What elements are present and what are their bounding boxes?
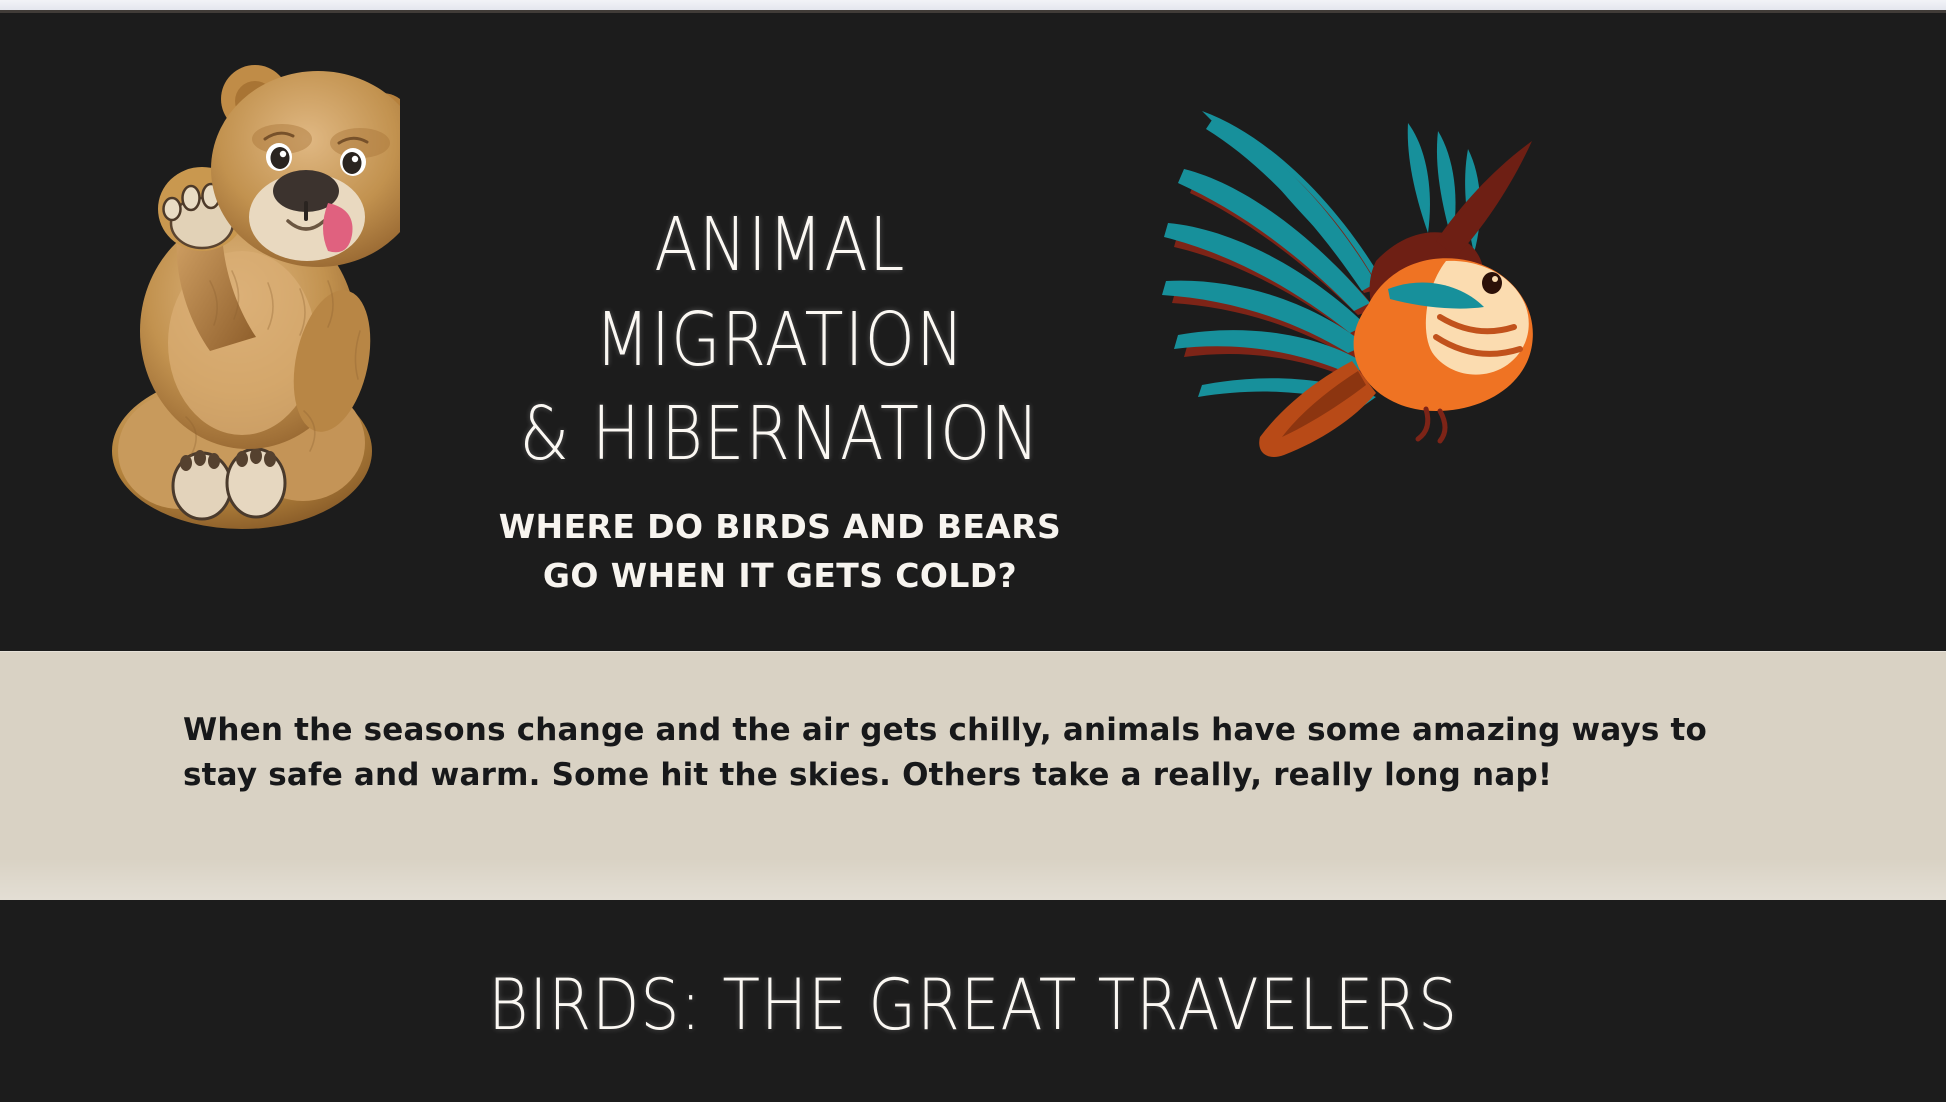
page-title: ANIMAL MIGRATION & HIBERNATION — [470, 198, 1089, 482]
page-subtitle: WHERE DO BIRDS AND BEARS GO WHEN IT GETS… — [420, 503, 1140, 600]
flying-bird-illustration — [1140, 93, 1540, 473]
intro-paragraph: When the seasons change and the air gets… — [183, 708, 1773, 797]
section-band: BIRDS: THE GREAT TRAVELERS — [0, 900, 1946, 1102]
poster-canvas: ANIMAL MIGRATION & HIBERNATION WHERE DO … — [0, 0, 1946, 1102]
window-top-strip — [0, 0, 1946, 10]
title-block: ANIMAL MIGRATION & HIBERNATION — [420, 198, 1140, 482]
waving-bear-illustration — [60, 31, 400, 531]
section-heading-birds: BIRDS: THE GREAT TRAVELERS — [117, 964, 1829, 1046]
hero-section: ANIMAL MIGRATION & HIBERNATION WHERE DO … — [0, 13, 1946, 651]
intro-band: When the seasons change and the air gets… — [0, 651, 1946, 900]
